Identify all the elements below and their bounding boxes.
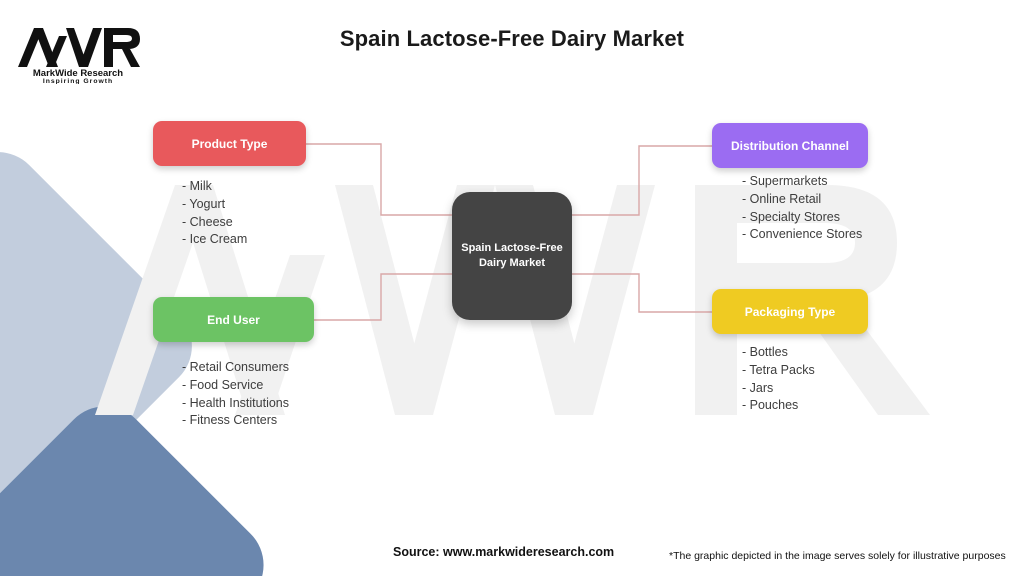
branch-end-user[interactable]: End User xyxy=(153,297,314,342)
branch-product-type-items: - Milk - Yogurt - Cheese - Ice Cream xyxy=(182,178,247,249)
list-item: - Pouches xyxy=(742,397,815,415)
branch-distribution-channel-items: - Supermarkets - Online Retail - Special… xyxy=(742,173,862,244)
center-node-label: Spain Lactose-Free Dairy Market xyxy=(452,241,572,271)
branch-distribution-channel[interactable]: Distribution Channel xyxy=(712,123,868,168)
branch-end-user-items: - Retail Consumers - Food Service - Heal… xyxy=(182,359,289,430)
svg-text:Inspiring Growth: Inspiring Growth xyxy=(43,78,113,84)
list-item: - Bottles xyxy=(742,344,815,362)
list-item: - Jars xyxy=(742,380,815,398)
page-title: Spain Lactose-Free Dairy Market xyxy=(0,26,1024,52)
list-item: - Cheese xyxy=(182,214,247,232)
branch-packaging-type-items: - Bottles - Tetra Packs - Jars - Pouches xyxy=(742,344,815,415)
branch-distribution-channel-label: Distribution Channel xyxy=(731,139,849,153)
list-item: - Supermarkets xyxy=(742,173,862,191)
list-item: - Tetra Packs xyxy=(742,362,815,380)
list-item: - Online Retail xyxy=(742,191,862,209)
branch-end-user-label: End User xyxy=(207,313,260,327)
branch-product-type[interactable]: Product Type xyxy=(153,121,306,166)
list-item: - Retail Consumers xyxy=(182,359,289,377)
center-node[interactable]: Spain Lactose-Free Dairy Market xyxy=(452,192,572,320)
list-item: - Health Institutions xyxy=(182,395,289,413)
list-item: - Food Service xyxy=(182,377,289,395)
list-item: - Milk xyxy=(182,178,247,196)
branch-packaging-type[interactable]: Packaging Type xyxy=(712,289,868,334)
list-item: - Yogurt xyxy=(182,196,247,214)
branch-packaging-type-label: Packaging Type xyxy=(745,305,835,319)
diagram-canvas: MarkWide Research Inspiring Growth Spain… xyxy=(0,0,1024,576)
disclaimer-label: *The graphic depicted in the image serve… xyxy=(669,550,1006,562)
list-item: - Ice Cream xyxy=(182,231,247,249)
list-item: - Specialty Stores xyxy=(742,209,862,227)
list-item: - Fitness Centers xyxy=(182,412,289,430)
branch-product-type-label: Product Type xyxy=(192,137,268,151)
source-label: Source: www.markwideresearch.com xyxy=(393,545,614,559)
list-item: - Convenience Stores xyxy=(742,226,862,244)
